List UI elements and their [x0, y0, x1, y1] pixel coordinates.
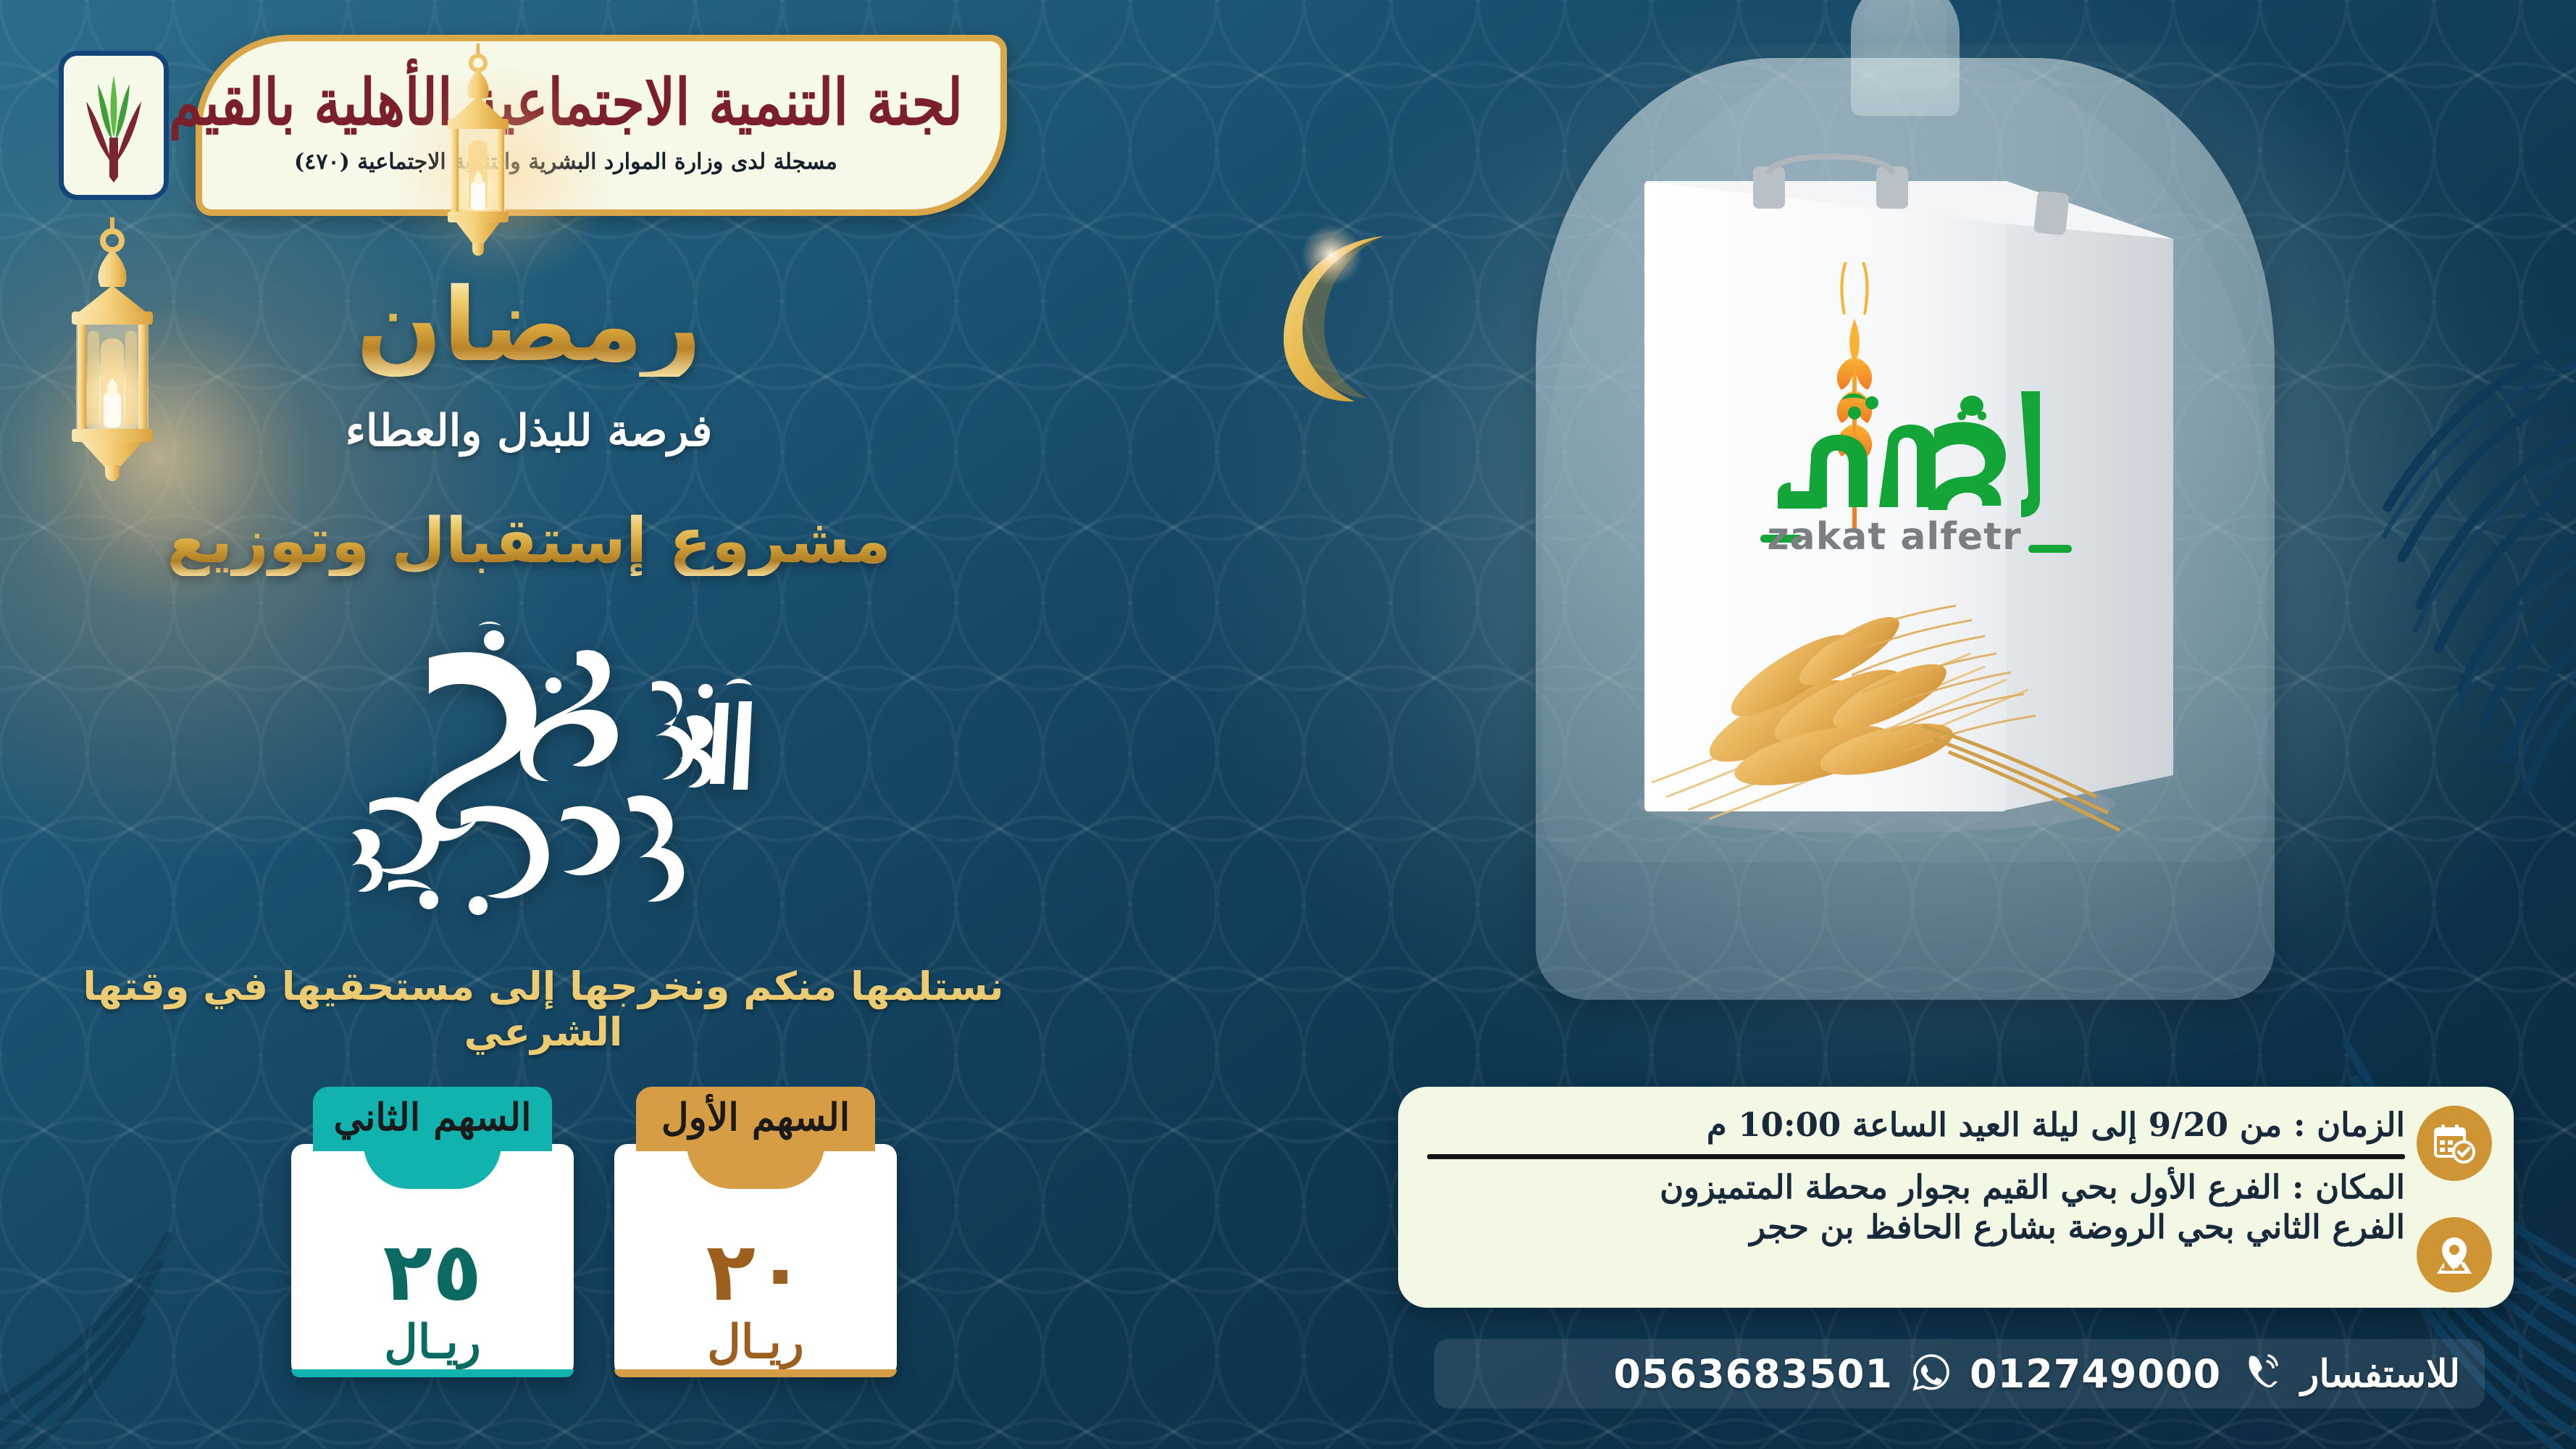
crescent-moon-icon — [1268, 217, 1434, 406]
phone-number[interactable]: 012749000 — [1970, 1351, 2221, 1397]
contact-label: للاستفسار — [2301, 1352, 2460, 1396]
event-place-line-2: الفرع الثاني بحي الروضة بشارع الحافظ بن … — [1427, 1208, 2405, 1248]
headline-subtitle: فرصة للبذل والعطاء — [0, 406, 1058, 456]
event-info-card: الزمان : من 9/20 إلى ليلة العيد الساعة 1… — [1398, 1087, 2514, 1308]
info-icon-column — [2414, 1106, 2495, 1293]
phone-ringing-icon — [2240, 1351, 2282, 1396]
whatsapp-number[interactable]: 0563683501 — [1613, 1351, 1893, 1397]
ramadan-lantern-icon — [420, 43, 536, 261]
share-currency: ريـال — [707, 1315, 803, 1369]
svg-text:zakat alfetr: zakat alfetr — [1767, 515, 2021, 559]
calendar-check-icon — [2417, 1106, 2492, 1181]
event-place-line-1: المكان : الفرع الأول بحي القيم بجوار محط… — [1427, 1168, 2405, 1208]
whatsapp-icon — [1912, 1353, 1951, 1395]
info-divider — [1427, 1154, 2405, 1159]
product-showcase: zakat alfetr — [1536, 58, 2275, 1000]
card-footer-strip — [291, 1369, 574, 1377]
share-amount: ٢٥ — [383, 1234, 482, 1311]
palm-frond-icon — [2301, 290, 2576, 840]
wheat-sprout-logo-icon — [59, 51, 169, 200]
tagline-text: نستلمها منكم ونخرجها إلى مستحقيها في وقت… — [0, 964, 1087, 1055]
share-card-second[interactable]: السهم الثاني ٢٥ ريـال — [291, 1087, 574, 1377]
share-card-label: السهم الثاني — [313, 1087, 552, 1151]
palm-frond-icon — [0, 1188, 275, 1449]
organization-registration: مسجلة لدى وزارة الموارد البشرية والتنمية… — [169, 149, 963, 175]
share-amount: ٢٠ — [706, 1234, 806, 1311]
share-currency: ريـال — [384, 1315, 480, 1369]
organization-logo-plate: لجنة التنمية الاجتماعية الأهلية بالقيم م… — [196, 35, 1007, 216]
event-time-line: الزمان : من 9/20 إلى ليلة العيد الساعة 1… — [1427, 1106, 2405, 1145]
organization-name: لجنة التنمية الاجتماعية الأهلية بالقيم — [169, 71, 963, 135]
zakat-alfetr-calligraphy — [0, 601, 1058, 942]
card-footer-strip — [614, 1369, 897, 1377]
project-title: مشروع إستقبال وتوزيع — [0, 507, 1058, 576]
poster-canvas: لجنة التنمية الاجتماعية الأهلية بالقيم م… — [0, 0, 2576, 1449]
page-title: رمضان — [0, 275, 1058, 377]
share-cards: السهم الثاني ٢٥ ريـال السهم الأول ٢٠ ريـ… — [275, 1087, 913, 1377]
share-card-label: السهم الأول — [636, 1087, 875, 1151]
share-card-first[interactable]: السهم الأول ٢٠ ريـال — [614, 1087, 897, 1377]
map-pin-icon — [2417, 1217, 2492, 1293]
contact-bar[interactable]: للاستفسار 012749000 0563683501 — [1434, 1339, 2485, 1408]
